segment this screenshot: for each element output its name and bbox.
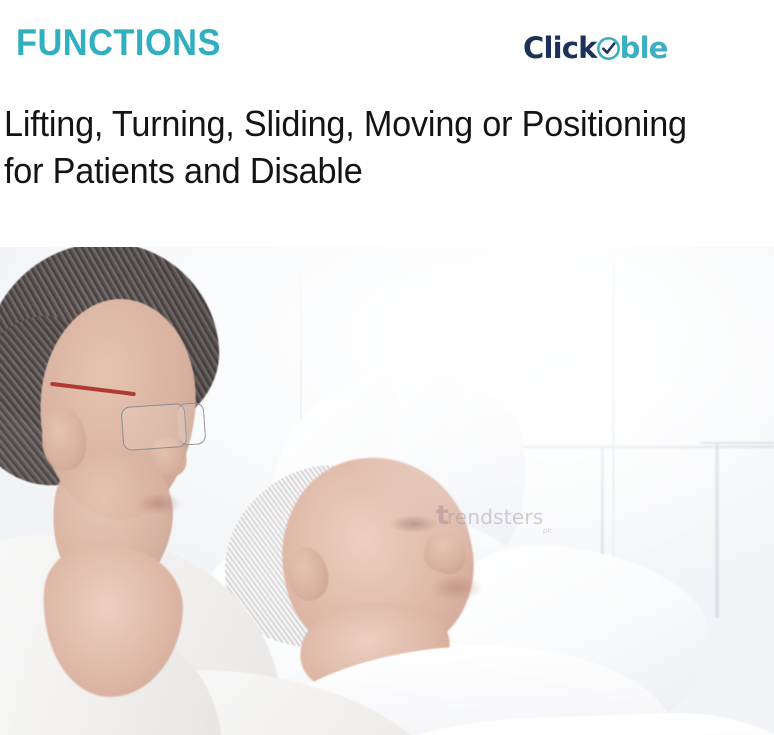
product-subtitle-line-2: for Patients and Disable xyxy=(4,147,736,194)
page-title: FUNCTIONS xyxy=(16,24,221,61)
caregiver-mouth xyxy=(136,493,182,515)
product-subtitle-line-1: Lifting, Turning, Sliding, Moving or Pos… xyxy=(4,100,736,147)
patient-mouth xyxy=(430,575,482,601)
product-subtitle: Lifting, Turning, Sliding, Moving or Pos… xyxy=(4,100,736,194)
photo-light-bloom xyxy=(330,247,774,577)
eyeglasses-lens xyxy=(177,402,207,446)
circled-check-icon xyxy=(596,36,621,61)
product-listing-banner: FUNCTIONS Click ble Lifting, Turning, Sl… xyxy=(0,0,774,735)
product-photo: t rendsters pk xyxy=(0,247,774,735)
brand-logo-text-primary: Click xyxy=(523,34,597,63)
banner-header: FUNCTIONS Click ble xyxy=(0,0,774,88)
brand-logo-text-secondary: ble xyxy=(620,34,668,63)
brand-logo: Click ble xyxy=(523,28,668,68)
